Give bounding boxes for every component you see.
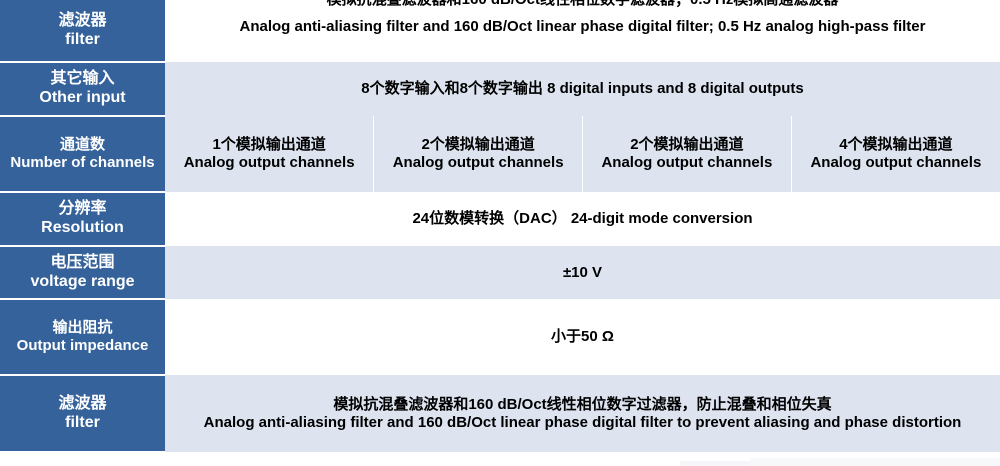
row-value-output-impedance: 小于50 Ω	[165, 299, 1000, 375]
channel-column-3: 2个模拟输出通道 Analog output channels	[583, 116, 792, 192]
channel-column-2-en: Analog output channels	[382, 154, 574, 172]
row-label-output-impedance-en: Output impedance	[4, 337, 161, 355]
channel-column-1: 1个模拟输出通道 Analog output channels	[165, 116, 374, 192]
row-label-filter-top-en: filter	[4, 31, 161, 50]
row-value-resolution-zh: 24位数模转换（DAC） 24-digit mode conversion	[173, 210, 992, 228]
row-label-voltage-range: 电压范围 voltage range	[0, 246, 165, 299]
row-label-number-of-channels-zh: 通道数	[4, 136, 161, 154]
row-value-output-impedance-zh: 小于50 Ω	[173, 328, 992, 346]
channel-column-2-zh: 2个模拟输出通道	[382, 136, 574, 154]
row-value-filter-bottom-en: Analog anti-aliasing filter and 160 dB/O…	[173, 414, 992, 432]
row-label-number-of-channels-en: Number of channels	[4, 154, 161, 172]
channel-column-4-en: Analog output channels	[800, 154, 992, 172]
specification-table-container: 滤波器 filter 模拟抗混叠滤波器和160 dB/Oct线性相位数字滤波器；…	[0, 0, 1000, 452]
row-label-voltage-range-en: voltage range	[4, 273, 161, 292]
channel-column-3-en: Analog output channels	[591, 154, 783, 172]
row-label-filter-bottom-en: filter	[4, 414, 161, 433]
row-value-filter-bottom: 模拟抗混叠滤波器和160 dB/Oct线性相位数字过滤器，防止混叠和相位失真 A…	[165, 375, 1000, 452]
table-row-resolution: 分辨率 Resolution 24位数模转换（DAC） 24-digit mod…	[0, 192, 1000, 246]
row-label-resolution-en: Resolution	[4, 219, 161, 238]
row-value-filter-top-zh: 模拟抗混叠滤波器和160 dB/Oct线性相位数字滤波器；0.5 Hz模拟高通滤…	[173, 0, 992, 9]
row-label-number-of-channels: 通道数 Number of channels	[0, 116, 165, 192]
row-value-filter-bottom-zh: 模拟抗混叠滤波器和160 dB/Oct线性相位数字过滤器，防止混叠和相位失真	[173, 396, 992, 414]
channel-column-1-zh: 1个模拟输出通道	[173, 136, 365, 154]
specification-table-body: 滤波器 filter 模拟抗混叠滤波器和160 dB/Oct线性相位数字滤波器；…	[0, 0, 1000, 452]
row-label-filter-top: 滤波器 filter	[0, 0, 165, 62]
bottom-tint-band-inner	[750, 458, 1000, 466]
row-label-other-input-en: Other input	[4, 89, 161, 108]
table-row-voltage-range: 电压范围 voltage range ±10 V	[0, 246, 1000, 299]
row-label-resolution: 分辨率 Resolution	[0, 192, 165, 246]
row-label-other-input-zh: 其它输入	[4, 70, 161, 89]
row-value-filter-top-en: Analog anti-aliasing filter and 160 dB/O…	[173, 18, 992, 36]
channel-column-4: 4个模拟输出通道 Analog output channels	[791, 116, 1000, 192]
row-label-resolution-zh: 分辨率	[4, 200, 161, 219]
row-value-filter-top: 模拟抗混叠滤波器和160 dB/Oct线性相位数字滤波器；0.5 Hz模拟高通滤…	[165, 0, 1000, 62]
row-label-other-input: 其它输入 Other input	[0, 62, 165, 116]
channel-column-1-en: Analog output channels	[173, 154, 365, 172]
table-row-filter-top: 滤波器 filter 模拟抗混叠滤波器和160 dB/Oct线性相位数字滤波器；…	[0, 0, 1000, 62]
channel-column-4-zh: 4个模拟输出通道	[800, 136, 992, 154]
row-value-other-input: 8个数字输入和8个数字输出 8 digital inputs and 8 dig…	[165, 62, 1000, 116]
row-label-output-impedance-zh: 输出阻抗	[4, 319, 161, 337]
table-row-output-impedance: 输出阻抗 Output impedance 小于50 Ω	[0, 299, 1000, 375]
row-value-voltage-range: ±10 V	[165, 246, 1000, 299]
channel-column-3-zh: 2个模拟输出通道	[591, 136, 783, 154]
row-label-voltage-range-zh: 电压范围	[4, 254, 161, 273]
row-label-filter-bottom: 滤波器 filter	[0, 375, 165, 452]
table-row-number-of-channels: 通道数 Number of channels 1个模拟输出通道 Analog o…	[0, 116, 1000, 192]
page-bottom-margin	[0, 452, 1000, 466]
channel-column-2: 2个模拟输出通道 Analog output channels	[374, 116, 583, 192]
row-label-output-impedance: 输出阻抗 Output impedance	[0, 299, 165, 375]
table-row-other-input: 其它输入 Other input 8个数字输入和8个数字输出 8 digital…	[0, 62, 1000, 116]
row-value-voltage-range-zh: ±10 V	[173, 264, 992, 282]
specification-table: 滤波器 filter 模拟抗混叠滤波器和160 dB/Oct线性相位数字滤波器；…	[0, 0, 1000, 452]
row-value-other-input-zh: 8个数字输入和8个数字输出 8 digital inputs and 8 dig…	[173, 80, 992, 98]
row-label-filter-bottom-zh: 滤波器	[4, 395, 161, 414]
table-row-filter-bottom: 滤波器 filter 模拟抗混叠滤波器和160 dB/Oct线性相位数字过滤器，…	[0, 375, 1000, 452]
row-value-resolution: 24位数模转换（DAC） 24-digit mode conversion	[165, 192, 1000, 246]
row-label-filter-top-zh: 滤波器	[4, 12, 161, 31]
